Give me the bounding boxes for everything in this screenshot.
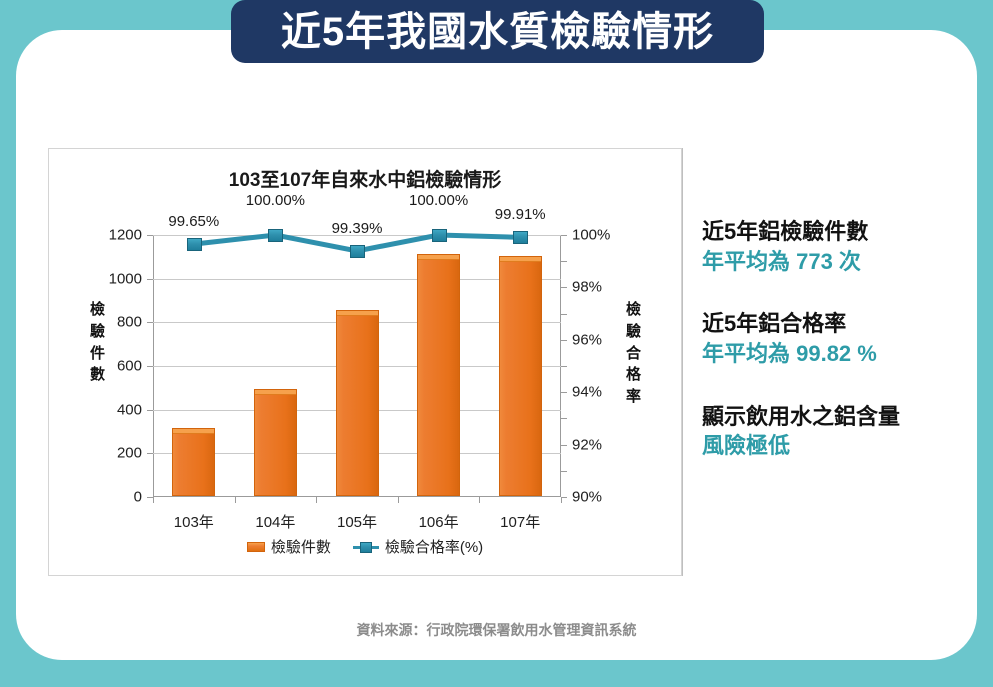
legend-item-bars: 檢驗件數 (247, 536, 331, 557)
fact-heading: 近5年鋁檢驗件數 (702, 218, 972, 247)
line-marker (268, 229, 283, 242)
fact-heading: 顯示飲用水之鋁含量 (702, 403, 972, 432)
line-swatch-icon (353, 541, 379, 553)
x-axis-tick-label: 104年 (255, 511, 295, 532)
fact-value: 風險極低 (702, 431, 972, 461)
y-axis-right-tick (561, 287, 567, 288)
legend-item-line: 檢驗合格率(%) (353, 536, 483, 557)
line-marker (187, 238, 202, 251)
chart-title: 103至107年自來水中鋁檢驗情形 (49, 165, 681, 192)
y-axis-right-tick-label: 90% (572, 489, 602, 506)
x-axis-tick-label: 105年 (337, 511, 377, 532)
line-marker (513, 231, 528, 244)
chart-legend: 檢驗件數 檢驗合格率(%) (49, 536, 681, 557)
y-axis-left-tick-label: 0 (134, 489, 142, 506)
y-axis-right-tick-label: 100% (572, 227, 610, 244)
summary-fact: 近5年鋁檢驗件數年平均為 773 次 (702, 218, 972, 276)
bar-swatch-icon (247, 542, 265, 552)
y-axis-right-minor-tick (561, 471, 567, 472)
y-axis-right-tick (561, 235, 567, 236)
x-axis-tick (316, 497, 317, 503)
y-axis-left-tick-label: 200 (117, 445, 142, 462)
legend-label-line: 檢驗合格率(%) (385, 536, 483, 557)
legend-label-bars: 檢驗件數 (271, 536, 331, 557)
y-axis-left-tick-label: 1000 (109, 270, 142, 287)
summary-fact: 近5年鋁合格率年平均為 99.82 % (702, 310, 972, 368)
x-axis-tick-label: 107年 (500, 511, 540, 532)
y-axis-left-tick-label: 1200 (109, 227, 142, 244)
slide-title-banner: 近5年我國水質檢驗情形 (231, 0, 764, 63)
y-axis-right-tick-label: 98% (572, 279, 602, 296)
line-marker (432, 229, 447, 242)
y-axis-right-minor-tick (561, 366, 567, 367)
y-axis-right-tick-label: 92% (572, 436, 602, 453)
fact-value: 年平均為 773 次 (702, 247, 972, 277)
line-data-label: 99.91% (495, 206, 546, 223)
summary-facts-panel: 近5年鋁檢驗件數年平均為 773 次近5年鋁合格率年平均為 99.82 %顯示飲… (702, 218, 972, 495)
y-axis-left-tick-label: 400 (117, 401, 142, 418)
x-axis-tick (153, 497, 154, 503)
line-data-label: 100.00% (409, 192, 468, 209)
y-axis-right-minor-tick (561, 314, 567, 315)
line-data-label: 99.39% (332, 220, 383, 237)
y-axis-left-tick-label: 800 (117, 314, 142, 331)
panel-divider (682, 148, 683, 576)
x-axis-tick (398, 497, 399, 503)
summary-fact: 顯示飲用水之鋁含量風險極低 (702, 403, 972, 461)
y-axis-right-minor-tick (561, 261, 567, 262)
source-note: 資料來源：行政院環保署飲用水管理資訊系統 (0, 620, 993, 640)
x-axis-tick (235, 497, 236, 503)
y-axis-right-tick-label: 94% (572, 384, 602, 401)
chart-plot-area: 02004006008001000120090%92%94%96%98%100%… (153, 235, 561, 497)
y-axis-right-tick-label: 96% (572, 331, 602, 348)
x-axis-tick (561, 497, 562, 503)
x-axis-tick-label: 106年 (419, 511, 459, 532)
x-axis-tick (479, 497, 480, 503)
y-axis-right-minor-tick (561, 418, 567, 419)
y-axis-right-title: 檢驗合格率 (625, 299, 642, 408)
y-axis-left-tick-label: 600 (117, 358, 142, 375)
chart-container: 103至107年自來水中鋁檢驗情形 0200400600800100012009… (48, 148, 682, 576)
x-axis-tick-label: 103年 (174, 511, 214, 532)
y-axis-right-tick (561, 392, 567, 393)
pass-rate-line (153, 235, 561, 497)
slide-canvas: 近5年我國水質檢驗情形 103至107年自來水中鋁檢驗情形 0200400600… (0, 0, 993, 687)
fact-value: 年平均為 99.82 % (702, 339, 972, 369)
page-title: 近5年我國水質檢驗情形 (281, 12, 714, 52)
y-axis-right-tick (561, 445, 567, 446)
line-data-label: 99.65% (168, 213, 219, 230)
y-axis-left-title: 檢驗件數 (89, 299, 106, 386)
line-marker (350, 245, 365, 258)
fact-heading: 近5年鋁合格率 (702, 310, 972, 339)
y-axis-right-tick (561, 340, 567, 341)
line-data-label: 100.00% (246, 192, 305, 209)
